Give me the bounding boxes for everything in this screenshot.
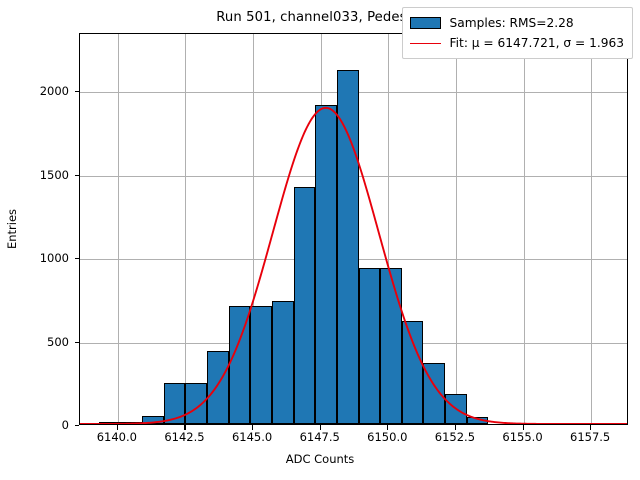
y-axis-title: Entries (5, 209, 19, 249)
y-tick-mark (75, 342, 80, 343)
x-tick-label: 6142.5 (164, 430, 204, 444)
x-tick-mark (523, 425, 524, 430)
y-tick-mark (75, 91, 80, 92)
y-tick-label: 500 (0, 335, 69, 349)
legend-item-fit[interactable]: Fit: μ = 6147.721, σ = 1.963 (410, 33, 624, 53)
x-tick-mark (320, 425, 321, 430)
y-tick-mark (75, 425, 80, 426)
legend-item-samples[interactable]: Samples: RMS=2.28 (410, 13, 624, 33)
y-tick-label: 1500 (0, 168, 69, 182)
plot-area (79, 33, 628, 425)
x-tick-mark (117, 425, 118, 430)
x-tick-label: 6157.5 (570, 430, 610, 444)
y-tick-label: 1000 (0, 251, 69, 265)
x-tick-mark (252, 425, 253, 430)
x-tick-label: 6150.0 (367, 430, 407, 444)
x-tick-mark (387, 425, 388, 430)
x-tick-label: 6140.0 (97, 430, 137, 444)
legend-label-fit: Fit: μ = 6147.721, σ = 1.963 (450, 36, 624, 50)
x-tick-mark (590, 425, 591, 430)
x-tick-mark (184, 425, 185, 430)
x-tick-label: 6155.0 (502, 430, 542, 444)
x-tick-label: 6145.0 (232, 430, 272, 444)
y-tick-mark (75, 175, 80, 176)
x-tick-label: 6147.5 (300, 430, 340, 444)
legend-label-samples: Samples: RMS=2.28 (450, 16, 574, 30)
legend-line-icon (410, 43, 441, 44)
histogram-figure: Run 501, channel033, Pedestal Entries AD… (0, 0, 640, 480)
x-tick-label: 6152.5 (435, 430, 475, 444)
y-tick-mark (75, 258, 80, 259)
gaussian-fit-curve (80, 34, 627, 424)
x-axis-title: ADC Counts (0, 452, 640, 466)
x-tick-mark (455, 425, 456, 430)
legend-patch-icon (410, 17, 441, 29)
y-tick-label: 0 (0, 418, 69, 432)
y-tick-label: 2000 (0, 84, 69, 98)
legend[interactable]: Samples: RMS=2.28 Fit: μ = 6147.721, σ =… (402, 7, 633, 59)
